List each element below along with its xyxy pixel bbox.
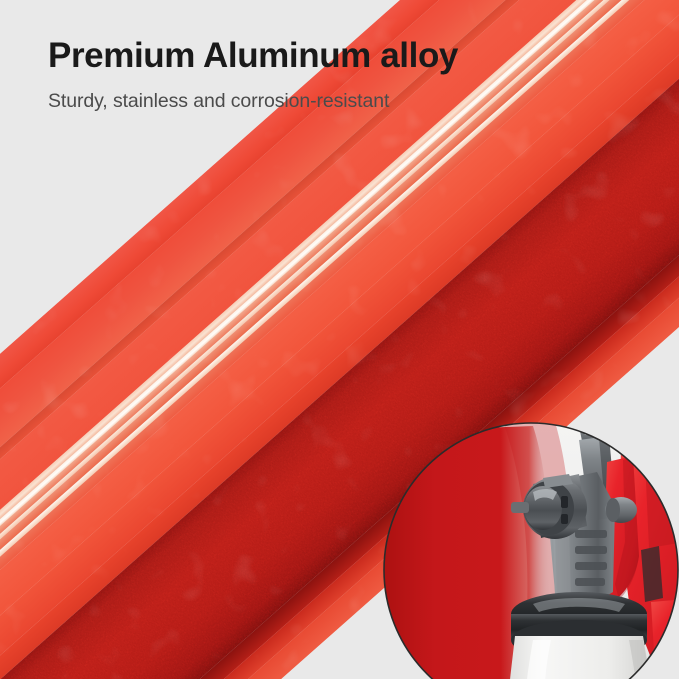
nozzle-ring-slot-b (561, 514, 568, 524)
nozzle-ring-slot-a (561, 496, 568, 508)
paint-sprayer-detail-circle (383, 422, 679, 679)
air-inlet-face (606, 498, 620, 522)
gun-body-red-lower (651, 598, 679, 668)
product-feature-banner: Premium Aluminum alloy Sturdy, stainless… (0, 0, 679, 679)
bracket-highlight (583, 425, 657, 435)
nozzle-tip (511, 502, 529, 513)
